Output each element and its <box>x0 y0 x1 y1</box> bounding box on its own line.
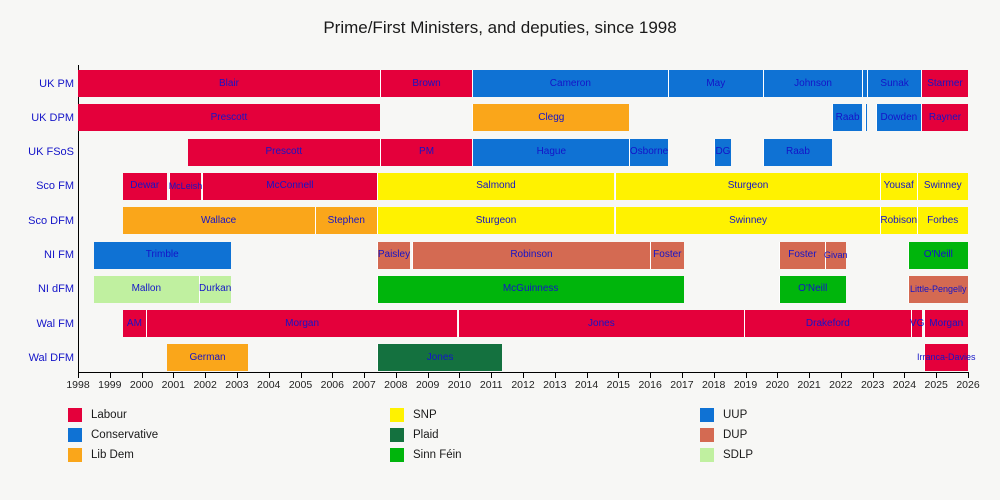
legend-column: SNPPlaidSinn Féin <box>390 405 462 465</box>
legend-label: Labour <box>91 409 127 421</box>
timeline-bar-label: McLeish <box>169 182 203 191</box>
x-axis-tick <box>269 373 270 378</box>
timeline-bar <box>865 104 868 131</box>
timeline-bar: O'Neill <box>779 276 846 303</box>
timeline-bar: Little-Pengelly <box>908 276 968 303</box>
timeline-bar: Prescott <box>188 139 380 166</box>
timeline-bar: Trimble <box>94 242 231 269</box>
x-axis-tick-label: 2001 <box>162 379 185 391</box>
timeline-bar-label: Rayner <box>929 113 961 123</box>
x-axis-tick <box>809 373 810 378</box>
x-axis-tick-label: 2026 <box>956 379 979 391</box>
timeline-bar: Swinney <box>615 207 880 234</box>
timeline-bar: Prescott <box>78 104 380 131</box>
timeline-bar-label: Givan <box>824 251 848 260</box>
row-label-uk-pm: UK PM <box>4 78 74 90</box>
x-axis-tick <box>78 373 79 378</box>
timeline-bar-label: German <box>189 353 225 363</box>
x-axis-tick <box>746 373 747 378</box>
x-axis-tick <box>650 373 651 378</box>
legend-swatch-icon <box>68 448 82 462</box>
timeline-bar: Sunak <box>867 70 921 97</box>
x-axis-tick <box>968 373 969 378</box>
timeline-bar: PM <box>380 139 472 166</box>
timeline-bar-label: Cameron <box>550 79 591 89</box>
timeline-bar-label: Swinney <box>924 181 962 191</box>
x-axis-tick-label: 2015 <box>607 379 630 391</box>
timeline-bar-label: Paisley <box>378 250 410 260</box>
timeline-bar-label: McConnell <box>266 181 313 191</box>
legend-label: SNP <box>413 409 437 421</box>
legend-label: DUP <box>723 429 747 441</box>
timeline-bar-label: Osborne <box>630 147 668 157</box>
timeline-bar: Foster <box>779 242 825 269</box>
x-axis-tick <box>301 373 302 378</box>
legend-item: SDLP <box>700 445 753 464</box>
timeline-bar-label: DG <box>715 147 730 157</box>
x-axis-tick <box>459 373 460 378</box>
timeline-bar-label: Dewar <box>130 181 159 191</box>
timeline-bar: Jones <box>377 344 503 371</box>
timeline-bar: Cameron <box>472 70 667 97</box>
x-axis-tick-label: 1999 <box>98 379 121 391</box>
legend-item: DUP <box>700 425 753 444</box>
x-axis-tick <box>936 373 937 378</box>
x-axis-tick-label: 2012 <box>511 379 534 391</box>
legend-item: Lib Dem <box>68 445 158 464</box>
page-title: Prime/First Ministers, and deputies, sin… <box>0 18 1000 38</box>
timeline-bar: May <box>668 70 763 97</box>
timeline-bar-label: VG <box>910 319 924 329</box>
x-axis-tick <box>682 373 683 378</box>
timeline-bar-label: Raab <box>836 113 860 123</box>
timeline-bar: Forbes <box>917 207 968 234</box>
x-axis-tick-label: 2005 <box>289 379 312 391</box>
timeline-bar-label: Sturgeon <box>728 181 769 191</box>
legend-label: SDLP <box>723 449 753 461</box>
timeline-bar: Stephen <box>315 207 377 234</box>
timeline-bar: Salmond <box>377 173 614 200</box>
legend-item: Sinn Féin <box>390 445 462 464</box>
x-axis-tick <box>428 373 429 378</box>
timeline-bar: Wallace <box>123 207 315 234</box>
x-axis-tick-label: 2016 <box>638 379 661 391</box>
timeline-bar: Rayner <box>921 104 968 131</box>
timeline-bar-label: Jones <box>588 319 615 329</box>
x-axis-tick <box>904 373 905 378</box>
legend-swatch-icon <box>700 428 714 442</box>
x-axis-tick-label: 2022 <box>829 379 852 391</box>
legend-item: UUP <box>700 405 753 424</box>
x-axis-tick-label: 2021 <box>797 379 820 391</box>
legend-label: Lib Dem <box>91 449 134 461</box>
timeline-bar: Drakeford <box>744 310 911 337</box>
timeline-bar-label: Dowden <box>881 113 918 123</box>
x-axis-tick-label: 2025 <box>925 379 948 391</box>
x-axis-tick-label: 2009 <box>416 379 439 391</box>
legend-column: UUPDUPSDLP <box>700 405 753 465</box>
timeline-bar: AM <box>123 310 147 337</box>
x-axis-tick <box>237 373 238 378</box>
timeline-bar: Yousaf <box>880 173 917 200</box>
x-axis-tick-label: 2013 <box>543 379 566 391</box>
timeline-bar-label: Blair <box>219 79 239 89</box>
timeline-bar: Morgan <box>146 310 457 337</box>
timeline-bar-label: May <box>706 79 725 89</box>
timeline-bar: Irranca-Davies <box>924 344 969 371</box>
legend-item: Conservative <box>68 425 158 444</box>
timeline-bar: VG <box>911 310 921 337</box>
legend-item: SNP <box>390 405 462 424</box>
legend-label: Sinn Féin <box>413 449 462 461</box>
timeline-bar-label: Drakeford <box>806 319 850 329</box>
legend-swatch-icon <box>68 428 82 442</box>
timeline-bar-label: Stephen <box>328 216 365 226</box>
x-axis-tick-label: 2011 <box>480 379 503 391</box>
timeline-bar-label: Wallace <box>201 216 236 226</box>
legend: LabourConservativeLib DemSNPPlaidSinn Fé… <box>0 405 1000 485</box>
timeline-bar-label: Mallon <box>132 284 161 294</box>
timeline-bar: Robison <box>880 207 917 234</box>
timeline-bar: Starmer <box>921 70 968 97</box>
legend-item: Plaid <box>390 425 462 444</box>
row-label-ni-fm: NI FM <box>4 249 74 261</box>
timeline-bar: O'Neill <box>908 242 968 269</box>
x-axis-tick <box>841 373 842 378</box>
timeline-bar-label: Robinson <box>510 250 552 260</box>
legend-label: Conservative <box>91 429 158 441</box>
timeline-bar: Raab <box>832 104 862 131</box>
timeline-bar-label: Jones <box>427 353 454 363</box>
row-label-wal-dfm: Wal DFM <box>4 352 74 364</box>
x-axis-tick <box>777 373 778 378</box>
timeline-bar: Foster <box>650 242 683 269</box>
x-axis-tick-label: 2004 <box>257 379 280 391</box>
x-axis-tick <box>396 373 397 378</box>
x-axis-tick-label: 2019 <box>734 379 757 391</box>
x-axis-tick-label: 2007 <box>352 379 375 391</box>
timeline-bar-label: Morgan <box>929 319 963 329</box>
x-axis-tick <box>523 373 524 378</box>
x-axis-tick <box>173 373 174 378</box>
timeline-bar-label: Foster <box>788 250 816 260</box>
x-axis-tick <box>555 373 556 378</box>
timeline-bar-label: Little-Pengelly <box>910 285 967 294</box>
x-axis-tick <box>332 373 333 378</box>
legend-column: LabourConservativeLib Dem <box>68 405 158 465</box>
legend-swatch-icon <box>700 408 714 422</box>
legend-swatch-icon <box>390 428 404 442</box>
timeline-bar: Swinney <box>917 173 968 200</box>
timeline-bar: Sturgeon <box>377 207 614 234</box>
x-axis-tick <box>364 373 365 378</box>
x-axis-tick <box>205 373 206 378</box>
row-label-ni-dfm: NI dFM <box>4 283 74 295</box>
timeline-bar: Dewar <box>123 173 168 200</box>
timeline-bar: Robinson <box>412 242 650 269</box>
timeline-bar: Blair <box>78 70 380 97</box>
timeline-bar: Paisley <box>377 242 410 269</box>
timeline-bar-label: Morgan <box>285 319 319 329</box>
timeline-bar-label: Foster <box>653 250 681 260</box>
legend-swatch-icon <box>390 448 404 462</box>
timeline-bar: Morgan <box>924 310 969 337</box>
row-label-sco-fm: Sco FM <box>4 180 74 192</box>
row-label-wal-fm: Wal FM <box>4 318 74 330</box>
timeline-bar: Clegg <box>472 104 629 131</box>
legend-swatch-icon <box>700 448 714 462</box>
x-axis-tick-label: 2018 <box>702 379 725 391</box>
timeline-bar-label: Brown <box>412 79 440 89</box>
timeline-bar-label: O'Neill <box>924 250 953 260</box>
timeline-bar: Sturgeon <box>615 173 880 200</box>
timeline-bar-label: Robison <box>880 216 917 226</box>
x-axis-tick-label: 2008 <box>384 379 407 391</box>
row-label-sco-dfm: Sco DFM <box>4 215 74 227</box>
timeline-bar-label: Prescott <box>211 113 248 123</box>
timeline-bar: McLeish <box>169 173 202 200</box>
timeline-bar: Brown <box>380 70 472 97</box>
timeline-bar-label: PM <box>419 147 434 157</box>
row-label-uk-fsos: UK FSoS <box>4 146 74 158</box>
x-axis-tick-label: 2006 <box>321 379 344 391</box>
timeline-bar: Durkan <box>199 276 231 303</box>
x-axis-tick-label: 2014 <box>575 379 598 391</box>
timeline-bar: McConnell <box>202 173 377 200</box>
timeline-bar-label: McGuinness <box>503 284 559 294</box>
timeline-bar-label: Hague <box>537 147 566 157</box>
timeline-bar-label: Swinney <box>729 216 767 226</box>
timeline-bar-label: Prescott <box>265 147 302 157</box>
timeline-bar: Givan <box>825 242 846 269</box>
legend-label: UUP <box>723 409 747 421</box>
legend-item: Labour <box>68 405 158 424</box>
timeline-bar-label: O'Neill <box>798 284 827 294</box>
timeline-bar-label: Clegg <box>538 113 564 123</box>
timeline-bar-label: Trimble <box>146 250 179 260</box>
timeline-bar: Raab <box>763 139 832 166</box>
x-axis-tick <box>873 373 874 378</box>
timeline-bar-label: Starmer <box>927 79 963 89</box>
timeline-bar: McGuinness <box>377 276 684 303</box>
timeline-bar: DG <box>714 139 731 166</box>
timeline-bar-label: Irranca-Davies <box>917 353 976 362</box>
x-axis-tick-label: 2002 <box>193 379 216 391</box>
timeline-bar-label: Forbes <box>927 216 958 226</box>
timeline-bar: German <box>167 344 248 371</box>
x-axis-tick-label: 2003 <box>225 379 248 391</box>
timeline-bar-label: Yousaf <box>884 181 914 191</box>
timeline-bar-label: Durkan <box>199 284 231 294</box>
x-axis-tick-label: 2010 <box>448 379 471 391</box>
x-axis-tick <box>491 373 492 378</box>
legend-swatch-icon <box>68 408 82 422</box>
x-axis-tick-label: 2020 <box>766 379 789 391</box>
x-axis-tick <box>587 373 588 378</box>
timeline-bar-label: Johnson <box>794 79 832 89</box>
x-axis-tick <box>142 373 143 378</box>
timeline-bar: Dowden <box>876 104 921 131</box>
timeline-bar-label: Salmond <box>476 181 515 191</box>
x-axis-tick-label: 2024 <box>893 379 916 391</box>
timeline-bar-label: AM <box>127 319 142 329</box>
x-axis-tick <box>110 373 111 378</box>
timeline-bar-label: Sunak <box>880 79 908 89</box>
row-label-uk-dpm: UK DPM <box>4 112 74 124</box>
x-axis-tick <box>714 373 715 378</box>
timeline-plot-area: BlairBrownCameronMayJohnsonSunakStarmerP… <box>78 65 968 372</box>
legend-label: Plaid <box>413 429 439 441</box>
x-axis-tick-label: 2000 <box>130 379 153 391</box>
x-axis: 1998199920002001200220032004200520062007… <box>78 373 969 403</box>
timeline-bar: Hague <box>472 139 629 166</box>
timeline-bar: Jones <box>458 310 744 337</box>
timeline-bar: Osborne <box>629 139 667 166</box>
timeline-bar: Johnson <box>763 70 862 97</box>
x-axis-tick-label: 1998 <box>66 379 89 391</box>
legend-swatch-icon <box>390 408 404 422</box>
timeline-bar: Mallon <box>94 276 199 303</box>
x-axis-tick <box>618 373 619 378</box>
x-axis-tick-label: 2023 <box>861 379 884 391</box>
timeline-bar-label: Raab <box>786 147 810 157</box>
x-axis-tick-label: 2017 <box>670 379 693 391</box>
timeline-bar-label: Sturgeon <box>476 216 517 226</box>
